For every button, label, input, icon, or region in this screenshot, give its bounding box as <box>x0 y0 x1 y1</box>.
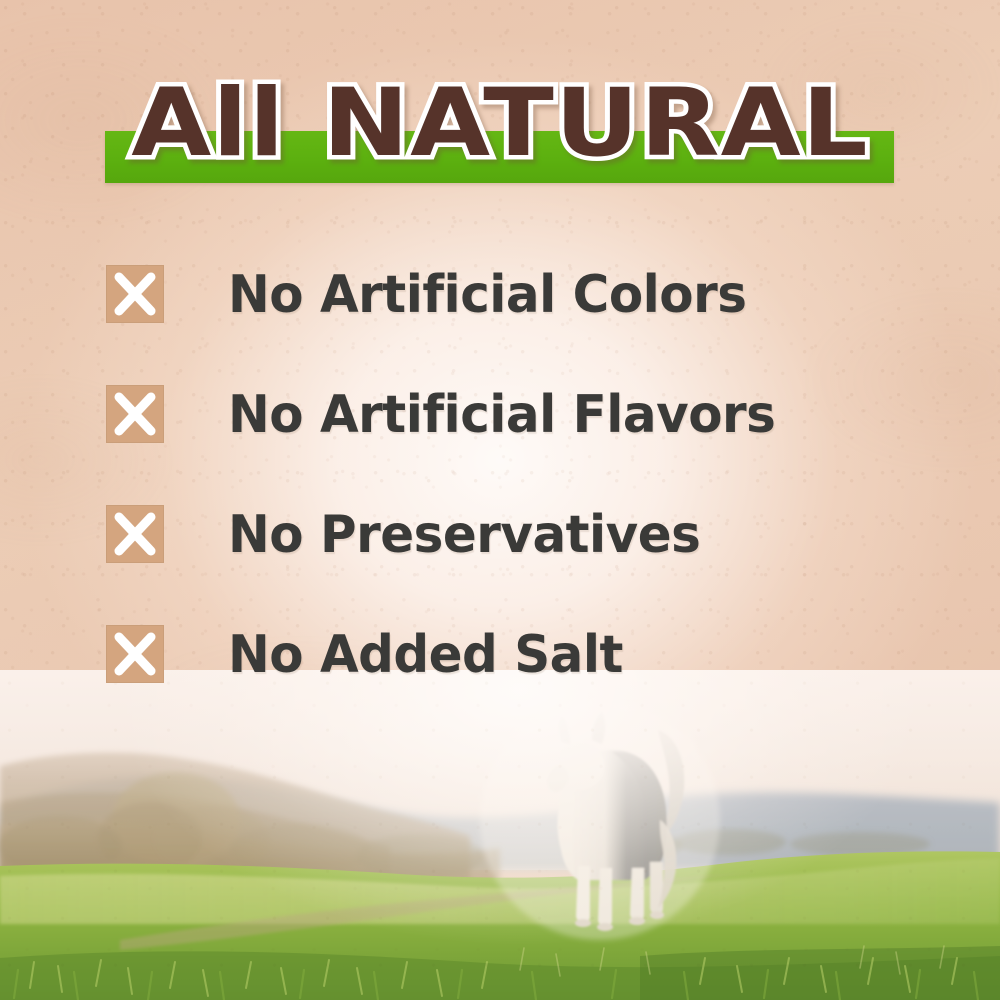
x-mark-icon <box>106 265 164 323</box>
page-title: All NATURAL <box>0 72 1000 176</box>
x-mark-icon <box>106 625 164 683</box>
feature-label: No Artificial Flavors <box>228 376 775 454</box>
feature-label: No Added Salt <box>228 616 623 694</box>
x-mark-icon <box>106 385 164 443</box>
list-item: No Artificial Colors <box>106 265 926 385</box>
feature-label: No Artificial Colors <box>228 256 746 334</box>
x-mark-icon <box>106 505 164 563</box>
headline-banner: All NATURAL <box>0 72 1000 197</box>
feature-list: No Artificial Colors No Artificial Flavo… <box>106 265 926 745</box>
all-natural-infographic: All NATURAL No Artificial Colors <box>0 0 1000 1000</box>
list-item: No Added Salt <box>106 625 926 745</box>
list-item: No Preservatives <box>106 505 926 625</box>
list-item: No Artificial Flavors <box>106 385 926 505</box>
feature-label: No Preservatives <box>228 496 700 574</box>
